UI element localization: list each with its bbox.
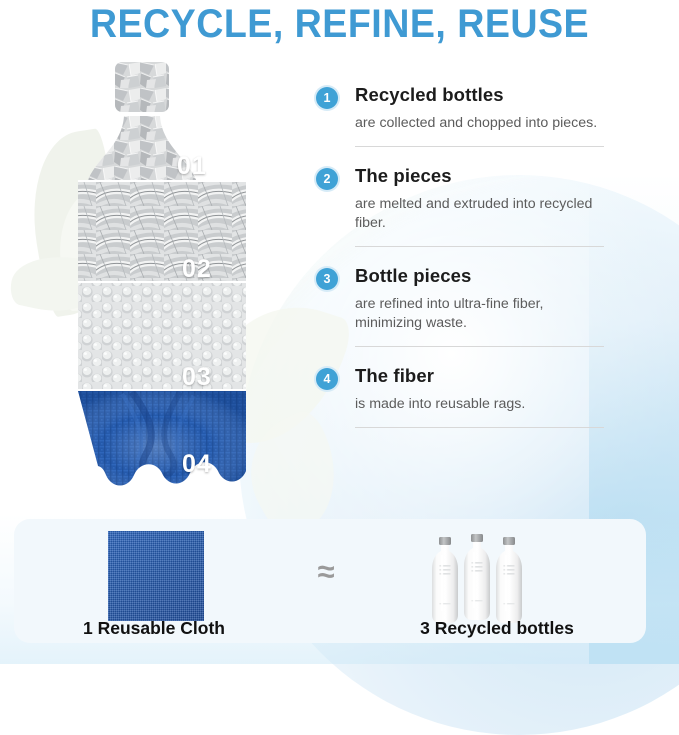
bottle-band-number-01: 01 [177,152,207,181]
approximately-equal-icon: ≈ [296,557,356,587]
bottle-band-04 [78,391,246,487]
bottle-band-01 [72,62,252,188]
bottle-band-number-02: 02 [182,255,212,284]
bottles-label: 3 Recycled bottles [382,618,612,639]
step-item-3: 3 Bottle pieces are refined into ultra-f… [316,265,604,347]
cloth-label: 1 Reusable Cloth [54,618,254,639]
step-title: Recycled bottles [355,84,504,106]
step-body: are melted and extruded into recycled fi… [355,195,604,233]
step-title: The pieces [355,165,452,187]
step-title: The fiber [355,365,434,387]
step-header: 2 The pieces [316,165,604,190]
step-title: Bottle pieces [355,265,471,287]
step-number-badge: 4 [316,368,338,390]
step-divider [355,146,604,147]
page-title: RECYCLE, REFINE, REUSE [20,2,658,47]
step-header: 3 Bottle pieces [316,265,604,290]
steps-list: 1 Recycled bottles are collected and cho… [316,84,604,428]
bottle-band-number-04: 04 [182,450,212,479]
recycled-bottles-icon [432,529,552,624]
step-number-badge: 2 [316,168,338,190]
bottle-diagram [62,62,262,510]
step-divider [355,346,604,347]
step-item-4: 4 The fiber is made into reusable rags. [316,365,604,428]
step-header: 4 The fiber [316,365,604,390]
step-header: 1 Recycled bottles [316,84,604,109]
reusable-cloth-swatch [108,531,204,621]
step-number-badge: 1 [316,87,338,109]
comparison-panel: ≈ [14,519,646,643]
bottle-band-03 [78,283,246,391]
step-divider [355,427,604,428]
step-item-1: 1 Recycled bottles are collected and cho… [316,84,604,147]
step-body: are refined into ultra-fine fiber, minim… [355,295,604,333]
step-item-2: 2 The pieces are melted and extruded int… [316,165,604,247]
step-number-badge: 3 [316,268,338,290]
step-body: is made into reusable rags. [355,395,604,414]
step-divider [355,246,604,247]
bottle-band-02 [78,182,246,283]
bottle-band-number-03: 03 [182,363,212,392]
step-body: are collected and chopped into pieces. [355,114,604,133]
